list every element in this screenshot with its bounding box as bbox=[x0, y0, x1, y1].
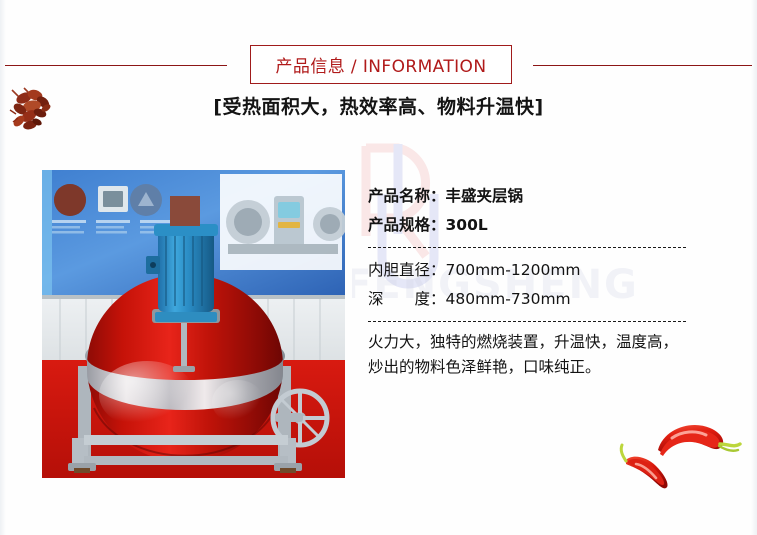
spec-separator-2 bbox=[368, 321, 686, 322]
product-spec-panel: 产品名称：丰盛夹层锅 产品规格：300L 内胆直径：700mm-1200mm 深… bbox=[368, 182, 698, 380]
header-rule-right bbox=[533, 65, 752, 66]
product-description: 火力大，独特的燃烧装置，升温快，温度高，炒出的物料色泽鲜艳，口味纯正。 bbox=[368, 330, 678, 380]
red-chili-peppers-icon bbox=[614, 414, 746, 496]
product-information-page: 产品信息 / INFORMATION [受热面积大，热效率高、物料升温快] bbox=[0, 0, 757, 535]
spec-inner-diameter: 内胆直径：700mm-1200mm bbox=[368, 256, 698, 285]
page-edge-tint-left bbox=[0, 0, 6, 535]
spec-separator-1 bbox=[368, 247, 686, 248]
product-photo[interactable] bbox=[42, 170, 345, 478]
page-subtitle: [受热面积大，热效率高、物料升温快] bbox=[0, 92, 757, 119]
information-title-text: 产品信息 / INFORMATION bbox=[276, 52, 487, 77]
spec-depth: 深 度：480mm-730mm bbox=[368, 285, 698, 314]
spec-product-model: 产品规格：300L bbox=[368, 211, 698, 240]
spec-product-name: 产品名称：丰盛夹层锅 bbox=[368, 182, 698, 211]
page-edge-tint-right bbox=[751, 0, 757, 535]
information-title-box: 产品信息 / INFORMATION bbox=[250, 45, 512, 84]
header-rule-left bbox=[5, 65, 227, 66]
